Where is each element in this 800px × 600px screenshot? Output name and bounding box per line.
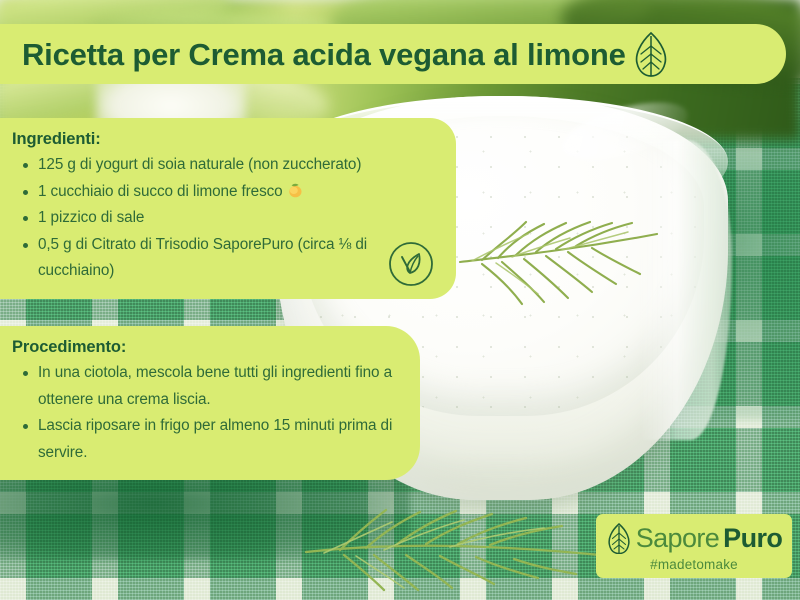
logo-tagline: #madetomake (650, 557, 738, 572)
logo-wordmark-row: Sapore Puro (606, 522, 783, 554)
ingredient-text: 1 pizzico di sale (38, 209, 144, 226)
procedure-step-text: Lascia riposare in frigo per almeno 15 m… (38, 417, 392, 461)
ingredients-heading: Ingredienti: (12, 130, 440, 149)
page-title: Ricetta per Crema acida vegana al limone (22, 39, 626, 70)
background-photo (0, 0, 800, 600)
leaf-icon (606, 522, 632, 554)
brand-logo: Sapore Puro #madetomake (596, 514, 792, 578)
dill-sprig-icon (300, 498, 620, 594)
list-item: Lascia riposare in frigo per almeno 15 m… (12, 413, 404, 466)
title-banner: Ricetta per Crema acida vegana al limone (0, 24, 786, 84)
ingredient-text: 1 cucchiaio di succo di limone fresco (38, 183, 283, 200)
ingredient-text: 0,5 g di Citrato di Trisodio SaporePuro … (38, 236, 367, 280)
ingredients-list: 125 g di yogurt di soia naturale (non zu… (12, 152, 440, 285)
procedure-list: In una ciotola, mescola bene tutti gli i… (12, 360, 404, 466)
list-item: In una ciotola, mescola bene tutti gli i… (12, 360, 404, 413)
recipe-card: Ricetta per Crema acida vegana al limone… (0, 0, 800, 600)
vegan-leaf-badge-icon (388, 241, 434, 287)
ingredients-panel: Ingredienti: 125 g di yogurt di soia nat… (0, 118, 456, 299)
list-item: 1 pizzico di sale (12, 205, 440, 232)
logo-text-sapore: Sapore (636, 525, 719, 552)
procedure-step-text: In una ciotola, mescola bene tutti gli i… (38, 364, 392, 408)
dill-sprig-icon (452, 200, 702, 330)
ingredient-text: 125 g di yogurt di soia naturale (non zu… (38, 156, 361, 173)
logo-text-puro: Puro (723, 525, 782, 552)
procedure-panel: Procedimento: In una ciotola, mescola be… (0, 326, 420, 480)
list-item: 1 cucchiaio di succo di limone fresco (12, 179, 440, 206)
list-item: 125 g di yogurt di soia naturale (non zu… (12, 152, 440, 179)
procedure-heading: Procedimento: (12, 338, 404, 357)
list-item: 0,5 g di Citrato di Trisodio SaporePuro … (12, 232, 440, 285)
leaf-icon (632, 30, 670, 78)
lemon-icon (286, 181, 304, 199)
